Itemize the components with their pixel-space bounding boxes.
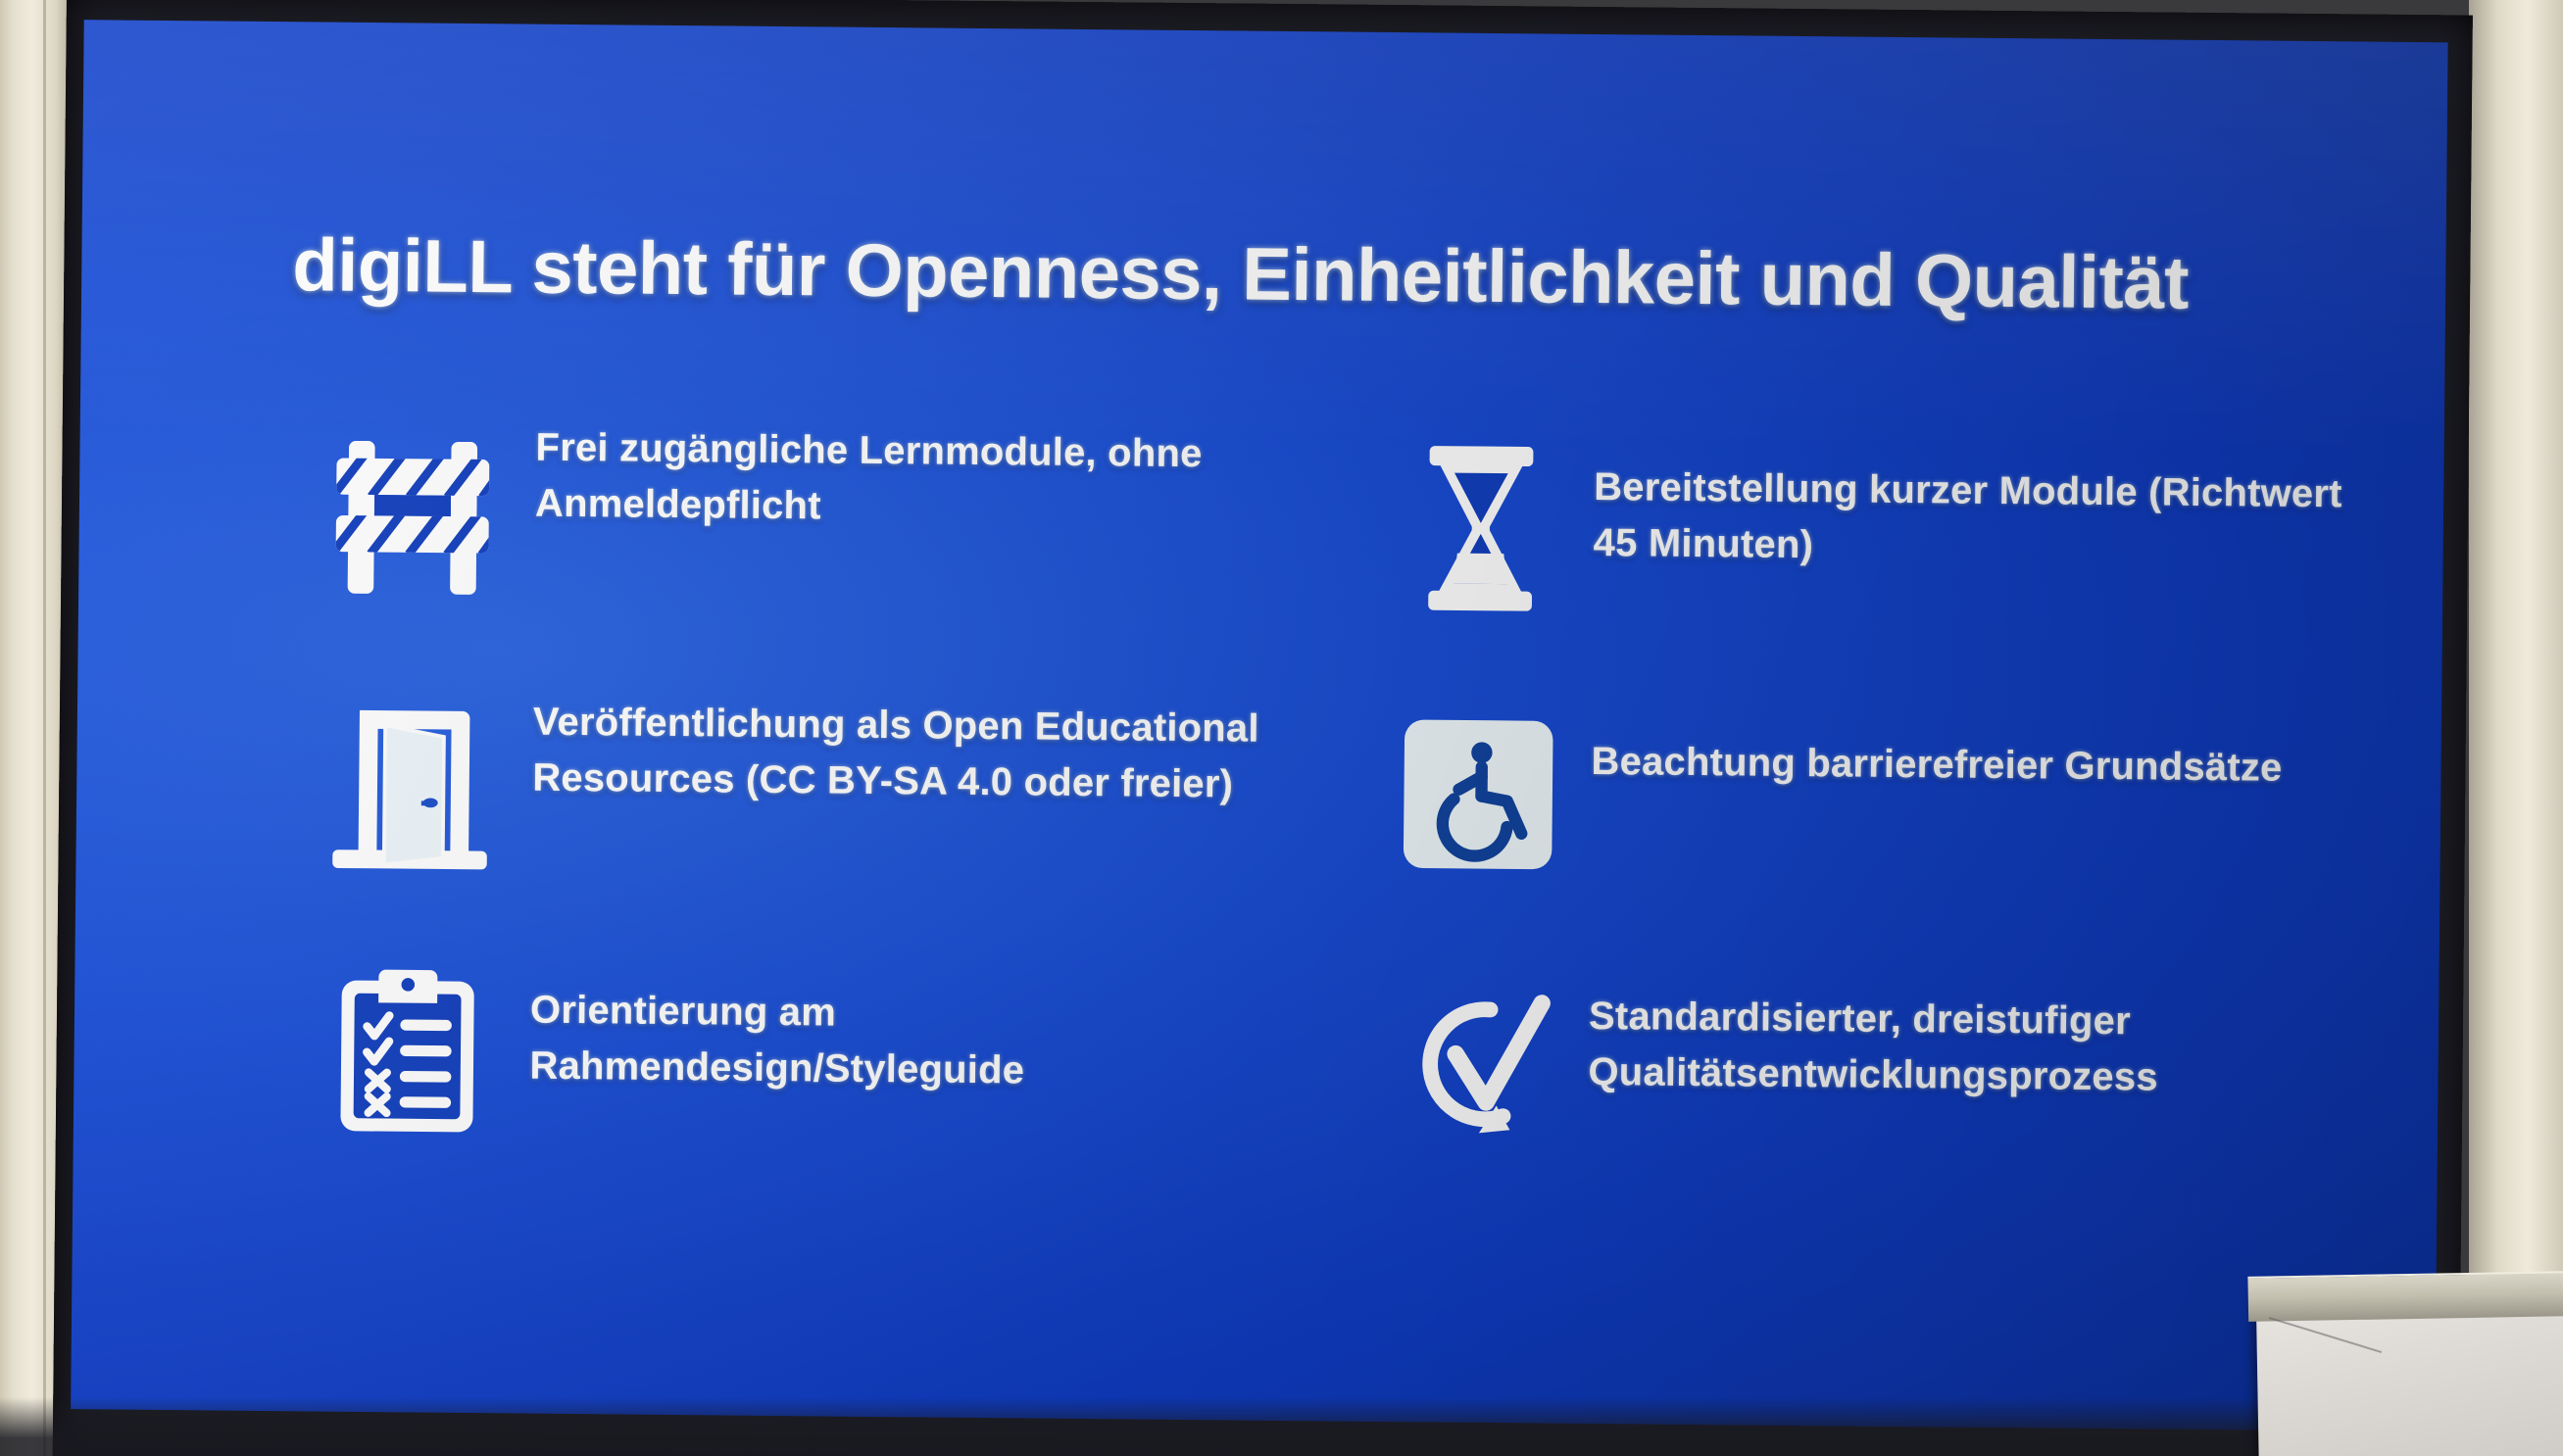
feature-text: Veröffentlichung als Open Educational Re… <box>532 683 1298 813</box>
screen-bezel: digiLL steht für Openness, Einheitlichke… <box>53 0 2473 1456</box>
wall-right <box>2469 0 2563 1456</box>
feature-text: Bereitstellung kurzer Module (Richtwert … <box>1593 426 2378 578</box>
flipchart-rail <box>2247 1271 2563 1322</box>
open-door-icon <box>286 680 533 888</box>
presentation-slide: digiLL steht für Openness, Einheitlichke… <box>71 20 2448 1432</box>
photo-of-projected-slide: digiLL steht für Openness, Einheitlichke… <box>0 0 2563 1456</box>
wall-seam <box>43 0 46 1456</box>
feature-text: Standardisierter, dreistufiger Qualitäts… <box>1588 959 2373 1107</box>
wheelchair-accessibility-icon <box>1364 691 1592 898</box>
clipboard-checklist-icon <box>284 946 531 1154</box>
feature-text: Frei zugängliche Lernmodule, ohne Anmeld… <box>535 416 1301 539</box>
feature-item-short-modules: Bereitstellung kurzer Module (Richtwert … <box>1366 424 2379 701</box>
flipchart-board <box>2247 1265 2563 1456</box>
feature-item-quality-process: Standardisierter, dreistufiger Qualitäts… <box>1361 957 2374 1234</box>
circular-arrow-check-icon <box>1362 957 1590 1165</box>
feature-item-accessibility: Beachtung barrierefreier Grundsätze <box>1364 691 2377 967</box>
page-title: digiLL steht für Openness, Einheitlichke… <box>292 222 2351 327</box>
road-barrier-icon <box>289 413 536 621</box>
feature-text: Orientierung am Rahmendesign/Styleguide <box>529 949 1295 1101</box>
feature-item-free-access: Frei zugängliche Lernmodule, ohne Anmeld… <box>288 413 1301 690</box>
features-grid: Frei zugängliche Lernmodule, ohne Anmeld… <box>283 413 2379 1233</box>
hourglass-icon <box>1367 424 1595 632</box>
feature-text: Beachtung barrierefreier Grundsätze <box>1591 693 2376 797</box>
feature-item-oer: Veröffentlichung als Open Educational Re… <box>286 680 1299 956</box>
feature-item-styleguide: Orientierung am Rahmendesign/Styleguide <box>283 946 1296 1223</box>
